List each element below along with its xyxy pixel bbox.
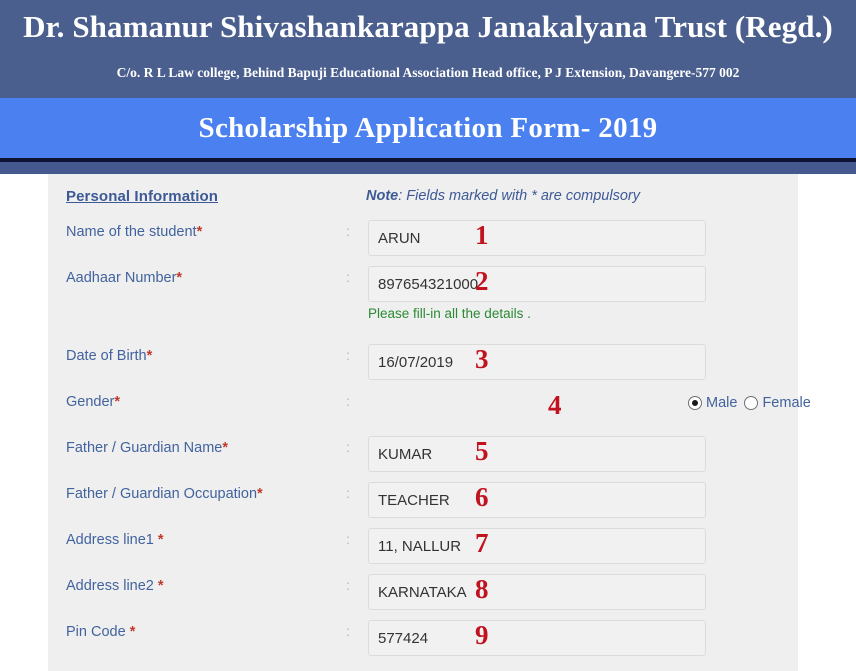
- field-control: [368, 574, 706, 610]
- field-control: [368, 266, 706, 302]
- field-colon-separator: :: [346, 223, 350, 239]
- annotation-marker: 4: [548, 392, 562, 419]
- field-row: Address line2 *:8: [48, 574, 798, 620]
- field-label: Address line2 *: [66, 578, 164, 594]
- field-row: Date of Birth*:3: [48, 344, 798, 390]
- radio-option-label: Female: [762, 395, 810, 411]
- field-row: Pin Code *:9: [48, 620, 798, 666]
- divider-slate: [0, 162, 856, 174]
- text-input[interactable]: [368, 482, 706, 518]
- compulsory-fields-note: Note: Fields marked with * are compulsor…: [366, 188, 640, 204]
- field-row: Address line1 *:7: [48, 528, 798, 574]
- required-asterisk: *: [222, 440, 228, 456]
- field-label: Address line1 *: [66, 532, 164, 548]
- field-control: [368, 528, 706, 564]
- form-panel: Personal Information Note: Fields marked…: [48, 174, 798, 671]
- required-asterisk: *: [147, 348, 153, 364]
- radio-option-female[interactable]: Female: [744, 395, 810, 411]
- field-label: Father / Guardian Occupation*: [66, 486, 263, 502]
- trust-address: C/o. R L Law college, Behind Bapuji Educ…: [0, 45, 856, 81]
- radio-button-icon[interactable]: [744, 396, 758, 410]
- field-colon-separator: :: [346, 623, 350, 639]
- field-control: [368, 436, 706, 472]
- radio-button-icon[interactable]: [688, 396, 702, 410]
- gender-radio-group[interactable]: MaleFemale: [688, 395, 811, 411]
- required-asterisk: *: [114, 394, 120, 410]
- field-colon-separator: :: [346, 577, 350, 593]
- field-colon-separator: :: [346, 485, 350, 501]
- field-colon-separator: :: [346, 439, 350, 455]
- field-row: Father / Guardian Name*:5: [48, 436, 798, 482]
- note-prefix: Note: [366, 188, 398, 204]
- form-fields-container: Personal Information Note: Fields marked…: [48, 174, 798, 671]
- field-control: [368, 220, 706, 256]
- field-colon-separator: :: [346, 393, 350, 409]
- required-asterisk: *: [158, 578, 164, 594]
- radio-option-male[interactable]: Male: [688, 395, 737, 411]
- field-label: Father / Guardian Name*: [66, 440, 228, 456]
- page-body: Personal Information Note: Fields marked…: [0, 174, 856, 671]
- radio-option-label: Male: [706, 395, 737, 411]
- text-input[interactable]: [368, 436, 706, 472]
- required-asterisk: *: [257, 486, 263, 502]
- field-colon-separator: :: [346, 531, 350, 547]
- field-label: Gender*: [66, 394, 120, 410]
- field-colon-separator: :: [346, 269, 350, 285]
- field-row: Name of the student*:1: [48, 220, 798, 266]
- text-input[interactable]: [368, 528, 706, 564]
- text-input[interactable]: [368, 620, 706, 656]
- validation-message: Please fill-in all the details .: [368, 306, 531, 321]
- note-text: : Fields marked with * are compulsory: [398, 188, 640, 204]
- required-asterisk: *: [130, 624, 136, 640]
- section-heading-personal-information: Personal Information: [66, 188, 218, 205]
- site-masthead: Dr. Shamanur Shivashankarappa Janakalyan…: [0, 0, 856, 98]
- field-row: Aadhaar Number*:Please fill-in all the d…: [48, 266, 798, 312]
- text-input[interactable]: [368, 220, 706, 256]
- trust-title: Dr. Shamanur Shivashankarappa Janakalyan…: [0, 0, 856, 45]
- required-asterisk: *: [176, 270, 182, 286]
- field-label: Date of Birth*: [66, 348, 152, 364]
- text-input[interactable]: [368, 574, 706, 610]
- field-label: Aadhaar Number*: [66, 270, 182, 286]
- required-asterisk: *: [158, 532, 164, 548]
- required-asterisk: *: [197, 224, 203, 240]
- field-row: Father / Guardian Occupation*:6: [48, 482, 798, 528]
- field-control: [368, 482, 706, 518]
- field-label: Pin Code *: [66, 624, 135, 640]
- text-input[interactable]: [368, 266, 706, 302]
- field-colon-separator: :: [346, 347, 350, 363]
- text-input[interactable]: [368, 344, 706, 380]
- field-control: [368, 620, 706, 656]
- field-row: Gender*:MaleFemale4: [48, 390, 798, 436]
- form-title: Scholarship Application Form- 2019: [199, 112, 658, 145]
- field-control: [368, 344, 706, 380]
- form-title-banner: Scholarship Application Form- 2019: [0, 98, 856, 158]
- field-label: Name of the student*: [66, 224, 202, 240]
